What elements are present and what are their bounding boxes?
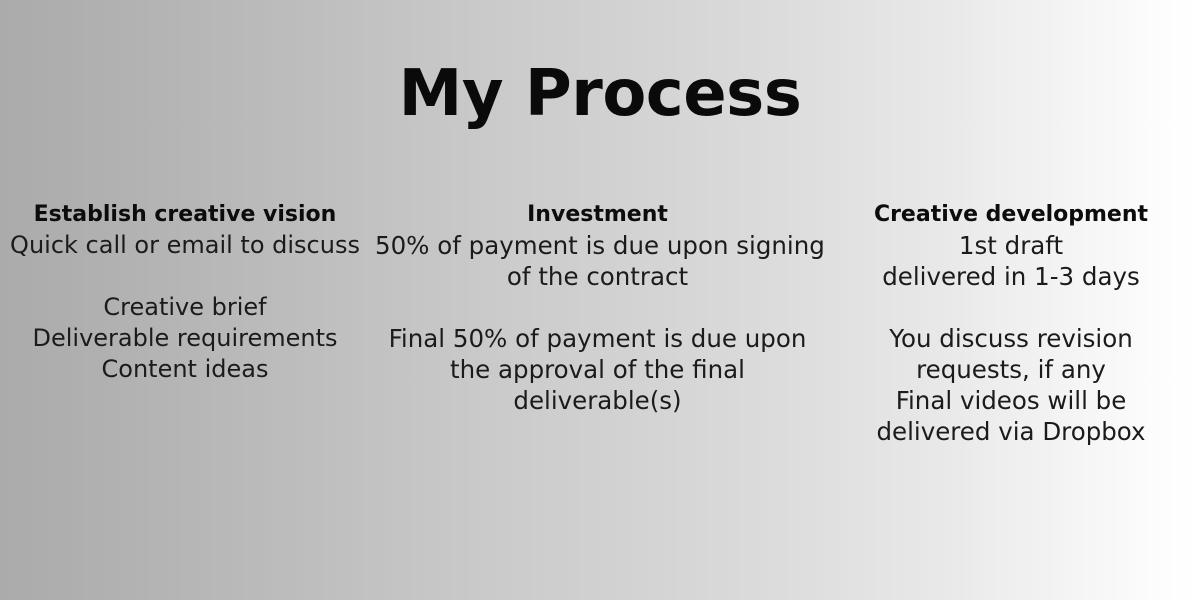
body-line: Final videos will be <box>858 385 1164 416</box>
body-line: delivered in 1-3 days <box>858 261 1164 292</box>
body-line: delivered via Dropbox <box>858 416 1164 447</box>
slide-canvas: My Process Establish creative vision Qui… <box>0 0 1200 600</box>
paragraph: You discuss revision requests, if any Fi… <box>858 323 1164 447</box>
body-line: 1st draft <box>858 230 1164 261</box>
body-line: You discuss revision <box>858 323 1164 354</box>
body-line: Creative brief <box>0 292 370 323</box>
column-body: Quick call or email to discuss Creative … <box>0 230 370 385</box>
body-line: Deliverable requirements <box>0 323 370 354</box>
process-column-establish-creative-vision: Establish creative vision Quick call or … <box>0 200 370 385</box>
paragraph: Creative brief Deliverable requirements … <box>0 292 370 385</box>
process-column-creative-development: Creative development 1st draft delivered… <box>858 200 1164 447</box>
column-heading: Investment <box>375 200 820 230</box>
column-heading: Creative development <box>858 200 1164 230</box>
paragraph: 1st draft delivered in 1-3 days <box>858 230 1164 292</box>
body-line: the approval of the final <box>375 354 820 385</box>
paragraph: 50% of payment is due upon signing of th… <box>375 230 820 292</box>
page-title: My Process <box>0 54 1200 134</box>
process-column-investment: Investment 50% of payment is due upon si… <box>375 200 820 416</box>
body-line: Quick call or email to discuss <box>0 230 370 261</box>
body-line: Final 50% of payment is due upon <box>375 323 820 354</box>
body-line: 50% of payment is due upon signing <box>375 230 820 261</box>
column-body: 1st draft delivered in 1-3 days You disc… <box>858 230 1164 447</box>
body-line: requests, if any <box>858 354 1164 385</box>
paragraph: Quick call or email to discuss <box>0 230 370 261</box>
column-body: 50% of payment is due upon signing of th… <box>375 230 820 416</box>
body-line: of the contract <box>375 261 820 292</box>
column-heading: Establish creative vision <box>0 200 370 230</box>
body-line: deliverable(s) <box>375 385 820 416</box>
process-columns: Establish creative vision Quick call or … <box>0 200 1200 460</box>
body-line: Content ideas <box>0 354 370 385</box>
paragraph: Final 50% of payment is due upon the app… <box>375 323 820 416</box>
